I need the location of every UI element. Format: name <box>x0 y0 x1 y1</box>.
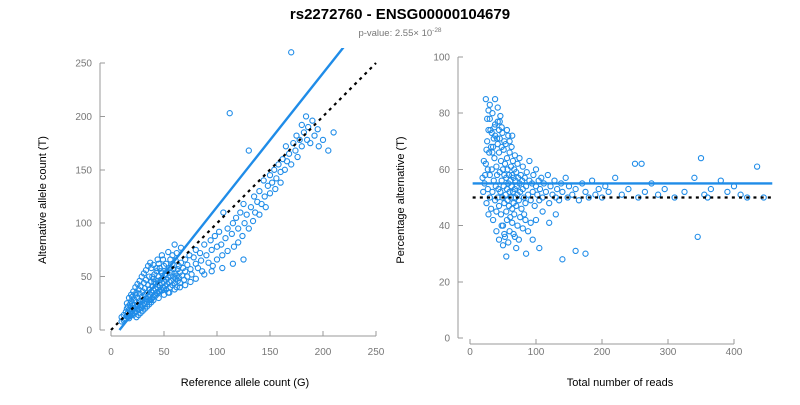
x-axis-title: Total number of reads <box>567 377 674 389</box>
y-tick-label: 80 <box>439 109 451 120</box>
subtitle-base: 10 <box>419 28 432 39</box>
y-tick-label: 50 <box>81 272 93 283</box>
x-tick-label: 100 <box>528 347 545 358</box>
y-axis-title: Alternative allele count (T) <box>37 136 49 264</box>
x-tick-label: 150 <box>262 347 279 358</box>
y-tick-label: 100 <box>433 53 450 64</box>
y-tick-label: 150 <box>75 165 92 176</box>
x-tick-label: 50 <box>158 347 170 358</box>
figure-subtitle: p-value: 2.55× 10-28 <box>358 27 441 39</box>
x-axis-title: Reference allele count (G) <box>181 377 309 389</box>
x-tick-label: 0 <box>467 347 473 358</box>
subtitle-exponent: -28 <box>432 27 442 34</box>
x-tick-label: 400 <box>726 347 743 358</box>
figure-title: rs2272760 - ENSG00000104679 <box>290 6 510 23</box>
x-tick-label: 0 <box>108 347 114 358</box>
y-tick-label: 40 <box>439 221 451 232</box>
x-tick-label: 200 <box>315 347 332 358</box>
x-tick-label: 300 <box>660 347 677 358</box>
subtitle-pvalue-text: p-value: 2.55 <box>358 28 413 39</box>
y-tick-label: 0 <box>86 326 92 337</box>
plot-canvas: rs2272760 - ENSG00000104679 p-value: 2.5… <box>0 0 800 400</box>
y-axis-title: Percentage alternative (T) <box>395 136 407 263</box>
figure-container: rs2272760 - ENSG00000104679 p-value: 2.5… <box>0 0 800 400</box>
y-tick-label: 250 <box>75 59 92 70</box>
x-tick-label: 200 <box>594 347 611 358</box>
x-tick-label: 250 <box>368 347 385 358</box>
y-tick-label: 60 <box>439 165 451 176</box>
y-tick-label: 100 <box>75 219 92 230</box>
y-tick-label: 20 <box>439 277 451 288</box>
y-tick-label: 0 <box>444 334 450 345</box>
x-tick-label: 100 <box>209 347 226 358</box>
y-tick-label: 200 <box>75 112 92 123</box>
